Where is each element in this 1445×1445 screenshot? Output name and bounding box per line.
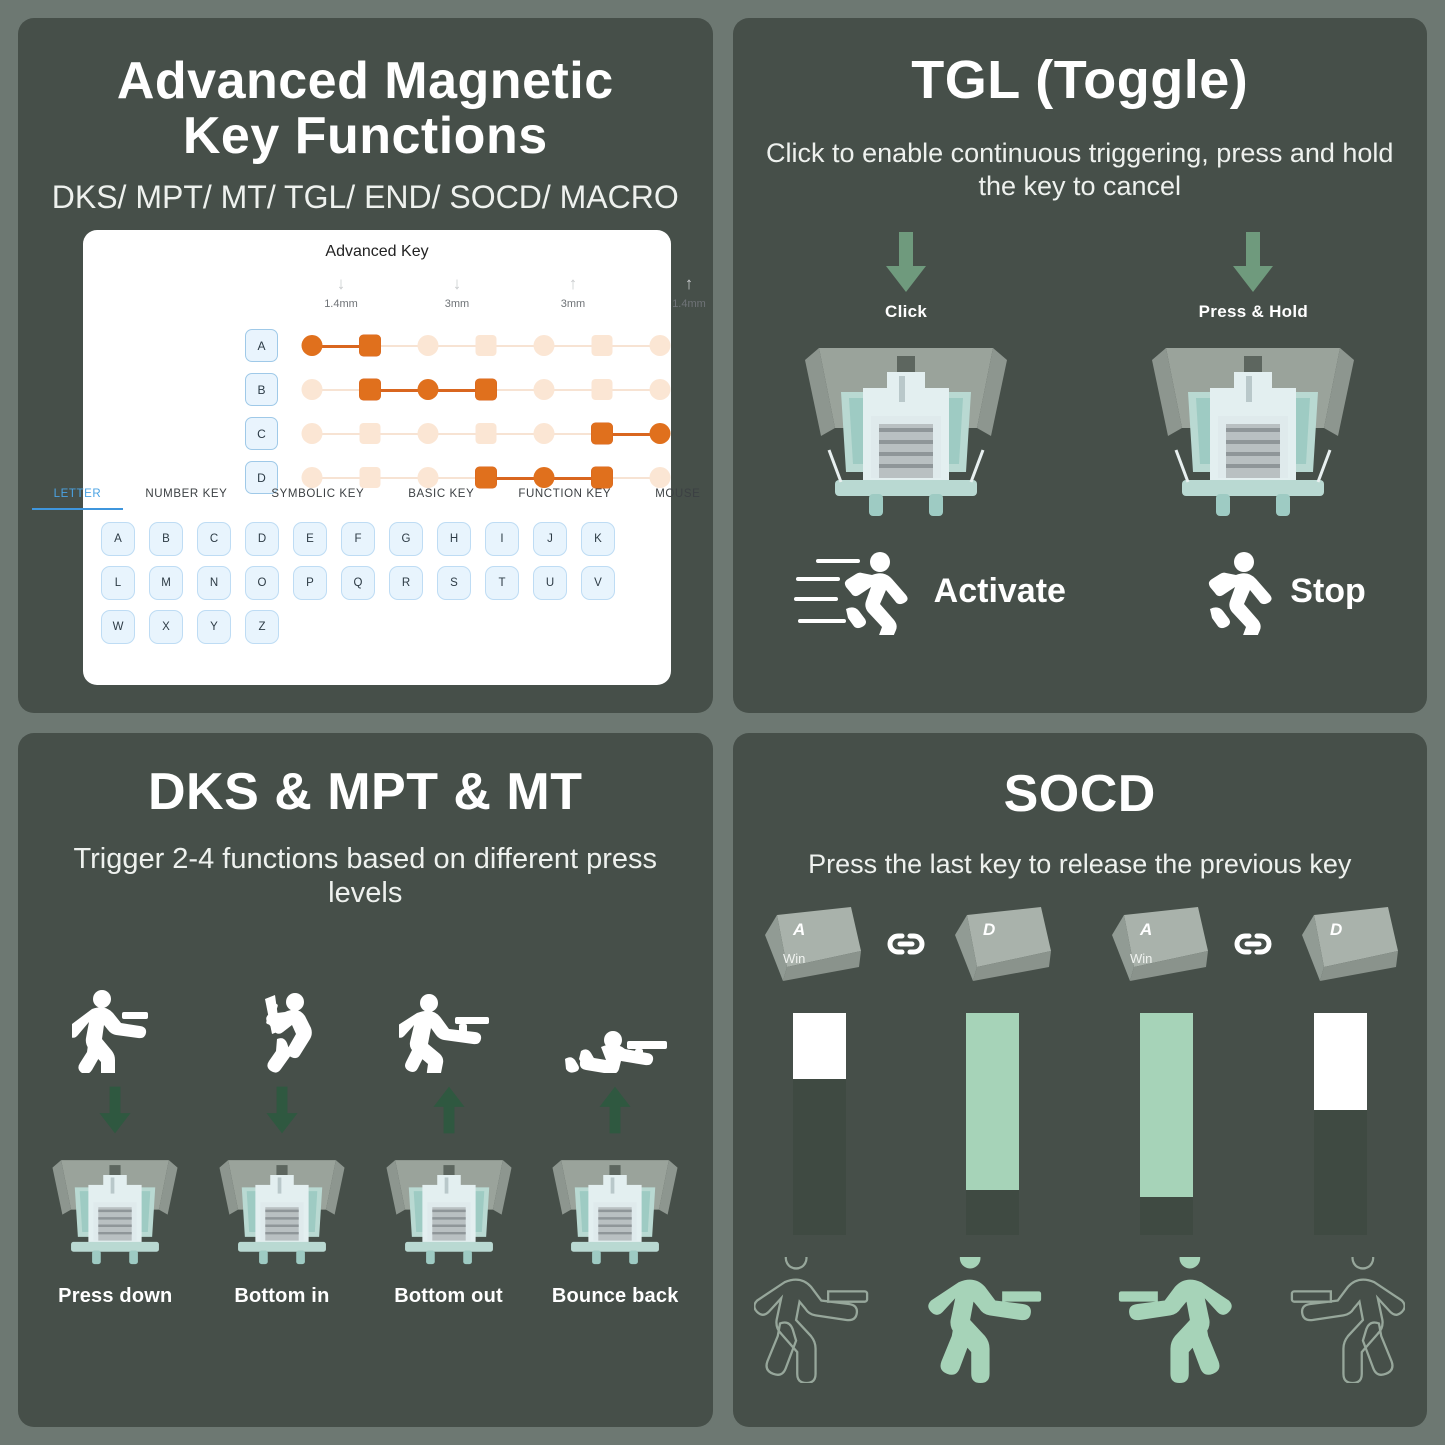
track-node[interactable] [650, 379, 671, 400]
key-cell-n[interactable]: N [197, 566, 231, 600]
panel-dks-mpt-mt: DKS & MPT & MT Trigger 2-4 functions bas… [18, 733, 713, 1428]
dks-soldier [532, 981, 699, 1073]
dks-column: Bounce back [532, 981, 699, 1308]
track-node[interactable] [418, 467, 439, 488]
down-arrow-icon [1226, 232, 1280, 298]
key-cell-z[interactable]: Z [245, 610, 279, 644]
magnetic-switch-icon [1148, 332, 1358, 517]
tab-symbolic-key[interactable]: SYMBOLIC KEY [249, 488, 386, 510]
key-cell-l[interactable]: L [101, 566, 135, 600]
socd-bar-empty [1314, 1110, 1367, 1234]
track-node[interactable] [476, 467, 497, 488]
dks-switch [199, 1147, 366, 1265]
switch-illustration-click [756, 332, 1056, 517]
advanced-key-track [290, 325, 655, 367]
track-node[interactable] [650, 423, 671, 444]
advanced-key-card: Advanced Key ↓1.4mm↓3mm↑3mm↑1.4mm ABCD L… [83, 230, 671, 685]
dks-column-label: Bottom in [199, 1285, 366, 1308]
tgl-footer-activate-label: Activate [934, 572, 1066, 611]
keycap-a[interactable]: AWin [1106, 901, 1210, 987]
socd-bar-meters [733, 1013, 1428, 1235]
down-arrow-icon [879, 232, 933, 298]
soldier-silhouette-icon [928, 1257, 1058, 1383]
panel-tgl-toggle: TGL (Toggle) Click to enable continuous … [733, 18, 1428, 713]
soldier-silhouette-icon [1275, 1257, 1405, 1383]
tab-number-key[interactable]: NUMBER KEY [123, 488, 249, 510]
tgl-caption-click: Click [756, 302, 1056, 322]
tab-function-key[interactable]: FUNCTION KEY [496, 488, 633, 510]
travel-scale-col: ↓1.4mm [306, 277, 376, 310]
key-cell-m[interactable]: M [149, 566, 183, 600]
key-cell-u[interactable]: U [533, 566, 567, 600]
advanced-key-rows: ABCD [83, 325, 671, 499]
tgl-column-press-hold: Press & Hold [1103, 232, 1403, 517]
dks-column: Press down [32, 981, 199, 1308]
socd-soldier [1275, 1257, 1405, 1388]
key-cell-p[interactable]: P [293, 566, 327, 600]
dks-soldier [32, 981, 199, 1073]
svg-text:D: D [1330, 920, 1342, 939]
track-node[interactable] [360, 335, 381, 356]
advanced-key-row: B [83, 369, 671, 411]
travel-scale-col: ↑3mm [538, 277, 608, 310]
magnetic-switch-icon [50, 1150, 180, 1265]
key-cell-j[interactable]: J [533, 522, 567, 556]
soldier-silhouette-icon [1102, 1257, 1232, 1383]
running-person-speed-icon [794, 549, 924, 635]
track-node[interactable] [534, 423, 555, 444]
key-cell-s[interactable]: S [437, 566, 471, 600]
magnetic-switch-icon [384, 1150, 514, 1265]
keycap-a[interactable]: AWin [759, 901, 863, 987]
svg-text:A: A [1139, 920, 1152, 939]
socd-soldier-row [733, 1257, 1428, 1388]
track-node[interactable] [650, 467, 671, 488]
track-node[interactable] [360, 467, 381, 488]
travel-direction-arrow-icon: ↓ [306, 277, 376, 291]
track-node[interactable] [302, 423, 323, 444]
track-node[interactable] [476, 335, 497, 356]
key-cell-y[interactable]: Y [197, 610, 231, 644]
socd-subtitle: Press the last key to release the previo… [733, 848, 1428, 880]
panel-socd: SOCD Press the last key to release the p… [733, 733, 1428, 1428]
tgl-footer-stop-label: Stop [1290, 572, 1366, 611]
tgl-footer: Activate Stop [733, 549, 1428, 635]
dks-switch [365, 1147, 532, 1265]
advanced-key-row-label[interactable]: C [245, 417, 278, 450]
track-node[interactable] [534, 379, 555, 400]
dks-soldier [199, 981, 366, 1073]
track-node[interactable] [418, 379, 439, 400]
socd-bar [1140, 1013, 1193, 1235]
travel-direction-arrow-icon: ↓ [422, 277, 492, 291]
track-node[interactable] [592, 379, 613, 400]
magnetic-switch-icon [217, 1150, 347, 1265]
key-cell-c[interactable]: C [197, 522, 231, 556]
keycap-d[interactable]: D [949, 901, 1053, 987]
socd-bar-empty [793, 1079, 846, 1234]
tgl-subtitle: Click to enable continuous triggering, p… [733, 137, 1428, 202]
track-node[interactable] [302, 379, 323, 400]
up-arrow-icon [594, 1081, 636, 1139]
key-cell-v[interactable]: V [581, 566, 615, 600]
dks-columns: Press downBottom inBottom outBounce back [32, 981, 699, 1308]
tab-letter[interactable]: LETTER [32, 488, 124, 510]
track-node[interactable] [592, 335, 613, 356]
panel-advanced-magnetic-key-functions: Advanced Magnetic Key Functions DKS/ MPT… [18, 18, 713, 713]
socd-keycap-pair: AWinD [759, 901, 1053, 987]
tgl-footer-activate: Activate [794, 549, 1066, 635]
advanced-key-row-label[interactable]: B [245, 373, 278, 406]
tgl-caption-press-hold: Press & Hold [1103, 302, 1403, 322]
socd-bar [793, 1013, 846, 1235]
dks-switch [532, 1147, 699, 1265]
track-node[interactable] [534, 335, 555, 356]
dks-column: Bottom out [365, 981, 532, 1308]
keycap-d[interactable]: D [1296, 901, 1400, 987]
tgl-footer-stop: Stop [1188, 549, 1366, 635]
tab-basic-key[interactable]: BASIC KEY [386, 488, 496, 510]
switch-illustration-press-hold [1103, 332, 1403, 517]
tgl-title: TGL (Toggle) [733, 52, 1428, 109]
track-node[interactable] [592, 423, 613, 444]
key-cell-q[interactable]: Q [341, 566, 375, 600]
key-category-tabs: LETTERNUMBER KEYSYMBOLIC KEYBASIC KEYFUN… [83, 488, 671, 510]
socd-keycap-pairs: AWinDAWinD [733, 901, 1428, 987]
socd-bar-fill [1140, 1013, 1193, 1197]
socd-soldier [1102, 1257, 1232, 1388]
dks-column-label: Bounce back [532, 1285, 699, 1308]
socd-bar-empty [966, 1190, 1019, 1234]
key-cell-r[interactable]: R [389, 566, 423, 600]
key-cell-e[interactable]: E [293, 522, 327, 556]
running-person-icon [1188, 549, 1280, 635]
dks-title: DKS & MPT & MT [18, 765, 713, 820]
svg-text:D: D [983, 920, 995, 939]
socd-bar-empty [1140, 1197, 1193, 1235]
title-line-1: Advanced Magnetic [117, 52, 614, 110]
socd-bar-fill [1314, 1013, 1367, 1111]
key-cell-h[interactable]: H [437, 522, 471, 556]
soldier-silhouette-icon [754, 1257, 884, 1383]
key-cell-w[interactable]: W [101, 610, 135, 644]
soldier-crouching-icon [399, 989, 499, 1073]
track-node[interactable] [302, 467, 323, 488]
dks-direction-arrow [199, 1073, 366, 1147]
track-node[interactable] [418, 335, 439, 356]
travel-direction-arrow-icon: ↑ [538, 277, 608, 291]
title-line-2: Key Functions [183, 107, 548, 165]
key-cell-o[interactable]: O [245, 566, 279, 600]
advanced-subtitle: DKS/ MPT/ MT/ TGL/ END/ SOCD/ MACRO [18, 178, 713, 216]
key-cell-k[interactable]: K [581, 522, 615, 556]
track-node[interactable] [592, 467, 613, 488]
socd-bar-fill [966, 1013, 1019, 1191]
key-cell-b[interactable]: B [149, 522, 183, 556]
dks-switch [32, 1147, 199, 1265]
socd-bar [1314, 1013, 1367, 1235]
soldier-jumping-icon [239, 989, 325, 1073]
dks-column: Bottom in [199, 981, 366, 1308]
key-cell-f[interactable]: F [341, 522, 375, 556]
key-cell-t[interactable]: T [485, 566, 519, 600]
link-icon [885, 923, 927, 965]
advanced-key-row: A [83, 325, 671, 367]
track-node[interactable] [302, 335, 323, 356]
socd-bar [966, 1013, 1019, 1235]
dks-direction-arrow [532, 1073, 699, 1147]
dks-subtitle: Trigger 2-4 functions based on different… [18, 842, 713, 912]
down-arrow-icon [261, 1081, 303, 1139]
key-cell-g[interactable]: G [389, 522, 423, 556]
track-node[interactable] [476, 379, 497, 400]
up-arrow-icon [428, 1081, 470, 1139]
track-node[interactable] [360, 379, 381, 400]
soldier-prone-icon [555, 1023, 675, 1073]
track-node[interactable] [534, 467, 555, 488]
tgl-columns: Click [733, 232, 1428, 517]
card-title: Advanced Key [83, 230, 671, 261]
tgl-column-click: Click [756, 232, 1056, 517]
advanced-key-row: C [83, 413, 671, 455]
track-node[interactable] [360, 423, 381, 444]
page-title: Advanced Magnetic Key Functions [18, 54, 713, 164]
track-node[interactable] [650, 335, 671, 356]
dks-column-label: Press down [32, 1285, 199, 1308]
travel-scale-col: ↑1.4mm [654, 277, 713, 310]
key-cell-i[interactable]: I [485, 522, 519, 556]
track-node[interactable] [476, 423, 497, 444]
dks-soldier [365, 981, 532, 1073]
svg-text:A: A [792, 920, 805, 939]
travel-scale-col: ↓3mm [422, 277, 492, 310]
socd-bar-fill [793, 1013, 846, 1080]
dks-direction-arrow [365, 1073, 532, 1147]
socd-soldier [928, 1257, 1058, 1388]
magnetic-switch-icon [550, 1150, 680, 1265]
advanced-key-row-label[interactable]: A [245, 329, 278, 362]
key-grid: ABCDEFGHIJKLMNOPQRSTUVWXYZ [101, 522, 653, 644]
magnetic-switch-icon [801, 332, 1011, 517]
key-cell-x[interactable]: X [149, 610, 183, 644]
tab-mouse[interactable]: MOUSE [633, 488, 712, 510]
dks-direction-arrow [32, 1073, 199, 1147]
travel-depth-label: 1.4mm [654, 298, 713, 310]
svg-text:Win: Win [1130, 951, 1152, 966]
travel-depth-label: 1.4mm [306, 298, 376, 310]
down-arrow-icon [94, 1081, 136, 1139]
svg-text:Win: Win [783, 951, 805, 966]
advanced-key-track [290, 369, 655, 411]
link-icon [1232, 923, 1274, 965]
socd-title: SOCD [733, 767, 1428, 822]
travel-depth-label: 3mm [538, 298, 608, 310]
infographic-board: Advanced Magnetic Key Functions DKS/ MPT… [0, 0, 1445, 1445]
socd-soldier [754, 1257, 884, 1388]
soldier-standing-icon [72, 989, 158, 1073]
travel-direction-arrow-icon: ↑ [654, 277, 713, 291]
travel-scale: ↓1.4mm↓3mm↑3mm↑1.4mm [83, 277, 671, 323]
key-cell-d[interactable]: D [245, 522, 279, 556]
advanced-key-track [290, 413, 655, 455]
track-node[interactable] [418, 423, 439, 444]
socd-keycap-pair: AWinD [1106, 901, 1400, 987]
travel-depth-label: 3mm [422, 298, 492, 310]
dks-column-label: Bottom out [365, 1285, 532, 1308]
key-cell-a[interactable]: A [101, 522, 135, 556]
